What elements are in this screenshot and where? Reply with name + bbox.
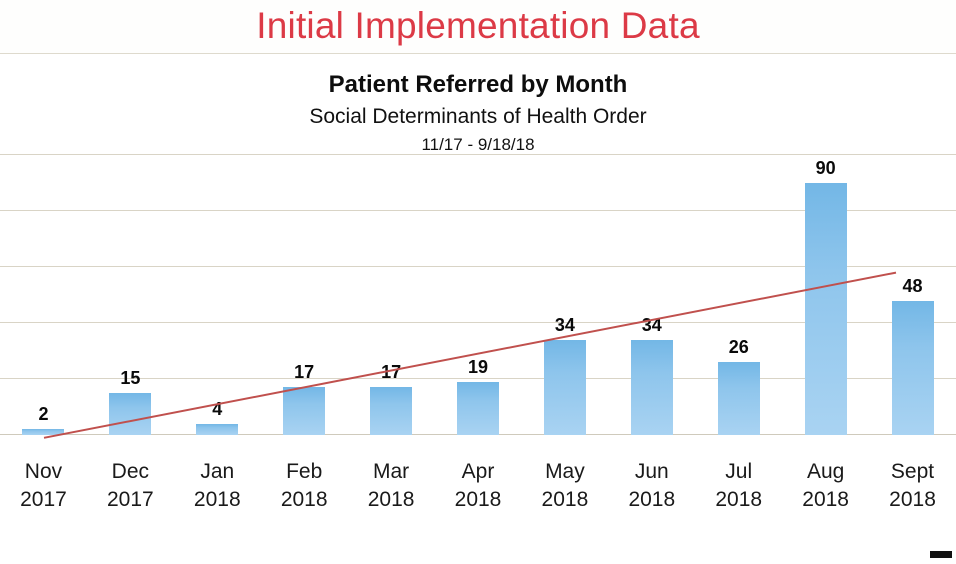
chart-title: Patient Referred by Month <box>0 70 956 99</box>
chart-container: Patient Referred by Month Social Determi… <box>0 54 956 564</box>
x-axis-tick-label: May2018 <box>515 458 615 514</box>
x-tick-month: Jul <box>689 458 789 486</box>
x-axis-tick-label: Jun2018 <box>602 458 702 514</box>
x-tick-year: 2018 <box>167 486 267 514</box>
x-axis-tick-label: Apr2018 <box>428 458 528 514</box>
trendline <box>44 273 896 438</box>
plot-area: 21541717193434269048 <box>0 149 956 435</box>
chart-subtitle: Social Determinants of Health Order <box>0 104 956 129</box>
x-tick-month: Feb <box>254 458 354 486</box>
x-axis-tick-label: Feb2018 <box>254 458 354 514</box>
x-tick-month: Jun <box>602 458 702 486</box>
x-axis-tick-label: Aug2018 <box>776 458 876 514</box>
x-tick-year: 2018 <box>863 486 956 514</box>
x-tick-year: 2018 <box>776 486 876 514</box>
corner-mark <box>930 551 952 558</box>
x-tick-year: 2018 <box>515 486 615 514</box>
x-axis-tick-label: Sept2018 <box>863 458 956 514</box>
x-axis: Nov2017Dec2017Jan2018Feb2018Mar2018Apr20… <box>0 440 956 530</box>
slide-title: Initial Implementation Data <box>0 4 956 48</box>
x-tick-year: 2018 <box>428 486 528 514</box>
trendline-layer <box>0 149 956 435</box>
x-tick-month: Dec <box>80 458 180 486</box>
x-axis-tick-label: Jul2018 <box>689 458 789 514</box>
x-tick-month: Apr <box>428 458 528 486</box>
x-tick-year: 2017 <box>80 486 180 514</box>
x-tick-year: 2018 <box>689 486 789 514</box>
x-tick-year: 2018 <box>254 486 354 514</box>
x-tick-year: 2018 <box>341 486 441 514</box>
x-tick-month: Mar <box>341 458 441 486</box>
x-axis-tick-label: Dec2017 <box>80 458 180 514</box>
x-axis-tick-label: Mar2018 <box>341 458 441 514</box>
slide-header: Initial Implementation Data <box>0 0 956 54</box>
x-tick-year: 2018 <box>602 486 702 514</box>
trendline-svg <box>0 149 956 447</box>
x-tick-month: May <box>515 458 615 486</box>
x-axis-tick-label: Jan2018 <box>167 458 267 514</box>
x-tick-month: Jan <box>167 458 267 486</box>
x-tick-month: Sept <box>863 458 956 486</box>
x-tick-month: Aug <box>776 458 876 486</box>
